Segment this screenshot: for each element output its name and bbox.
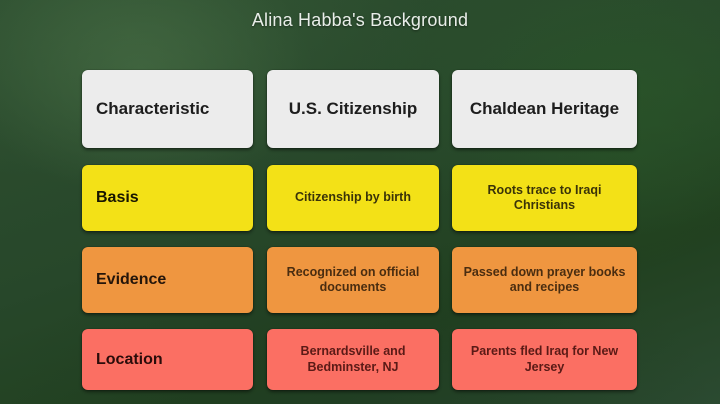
cell-evidence-chaldean-heritage: Passed down prayer books and recipes xyxy=(452,247,637,313)
cell-text: Recognized on official documents xyxy=(277,265,429,296)
table-row: Location Bernardsville and Bedminster, N… xyxy=(82,329,637,390)
cell-basis-us-citizenship: Citizenship by birth xyxy=(267,165,439,231)
row-label-location: Location xyxy=(82,329,253,390)
header-cell-characteristic: Characteristic xyxy=(82,70,253,148)
table-row: Evidence Recognized on official document… xyxy=(82,247,637,313)
cell-location-us-citizenship: Bernardsville and Bedminster, NJ xyxy=(267,329,439,390)
slide-canvas: Alina Habba's Background Characteristic … xyxy=(0,0,720,404)
header-label-us-citizenship: U.S. Citizenship xyxy=(289,99,417,118)
cell-location-chaldean-heritage: Parents fled Iraq for New Jersey xyxy=(452,329,637,390)
comparison-table: Characteristic U.S. Citizenship Chaldean… xyxy=(82,70,637,390)
row-label-basis: Basis xyxy=(82,165,253,231)
row-label-text: Location xyxy=(96,351,163,369)
header-label-chaldean-heritage: Chaldean Heritage xyxy=(470,99,619,118)
cell-text: Passed down prayer books and recipes xyxy=(462,265,627,296)
row-label-text: Evidence xyxy=(96,271,166,289)
cell-text: Parents fled Iraq for New Jersey xyxy=(462,344,627,375)
cell-text: Bernardsville and Bedminster, NJ xyxy=(277,344,429,375)
cell-text: Citizenship by birth xyxy=(295,190,411,205)
header-cell-chaldean-heritage: Chaldean Heritage xyxy=(452,70,637,148)
page-title: Alina Habba's Background xyxy=(0,10,720,31)
table-header-row: Characteristic U.S. Citizenship Chaldean… xyxy=(82,70,637,148)
table-row: Basis Citizenship by birth Roots trace t… xyxy=(82,165,637,231)
header-cell-us-citizenship: U.S. Citizenship xyxy=(267,70,439,148)
row-label-evidence: Evidence xyxy=(82,247,253,313)
cell-basis-chaldean-heritage: Roots trace to Iraqi Christians xyxy=(452,165,637,231)
cell-text: Roots trace to Iraqi Christians xyxy=(462,183,627,214)
header-label-characteristic: Characteristic xyxy=(96,99,209,118)
cell-evidence-us-citizenship: Recognized on official documents xyxy=(267,247,439,313)
row-label-text: Basis xyxy=(96,189,139,207)
